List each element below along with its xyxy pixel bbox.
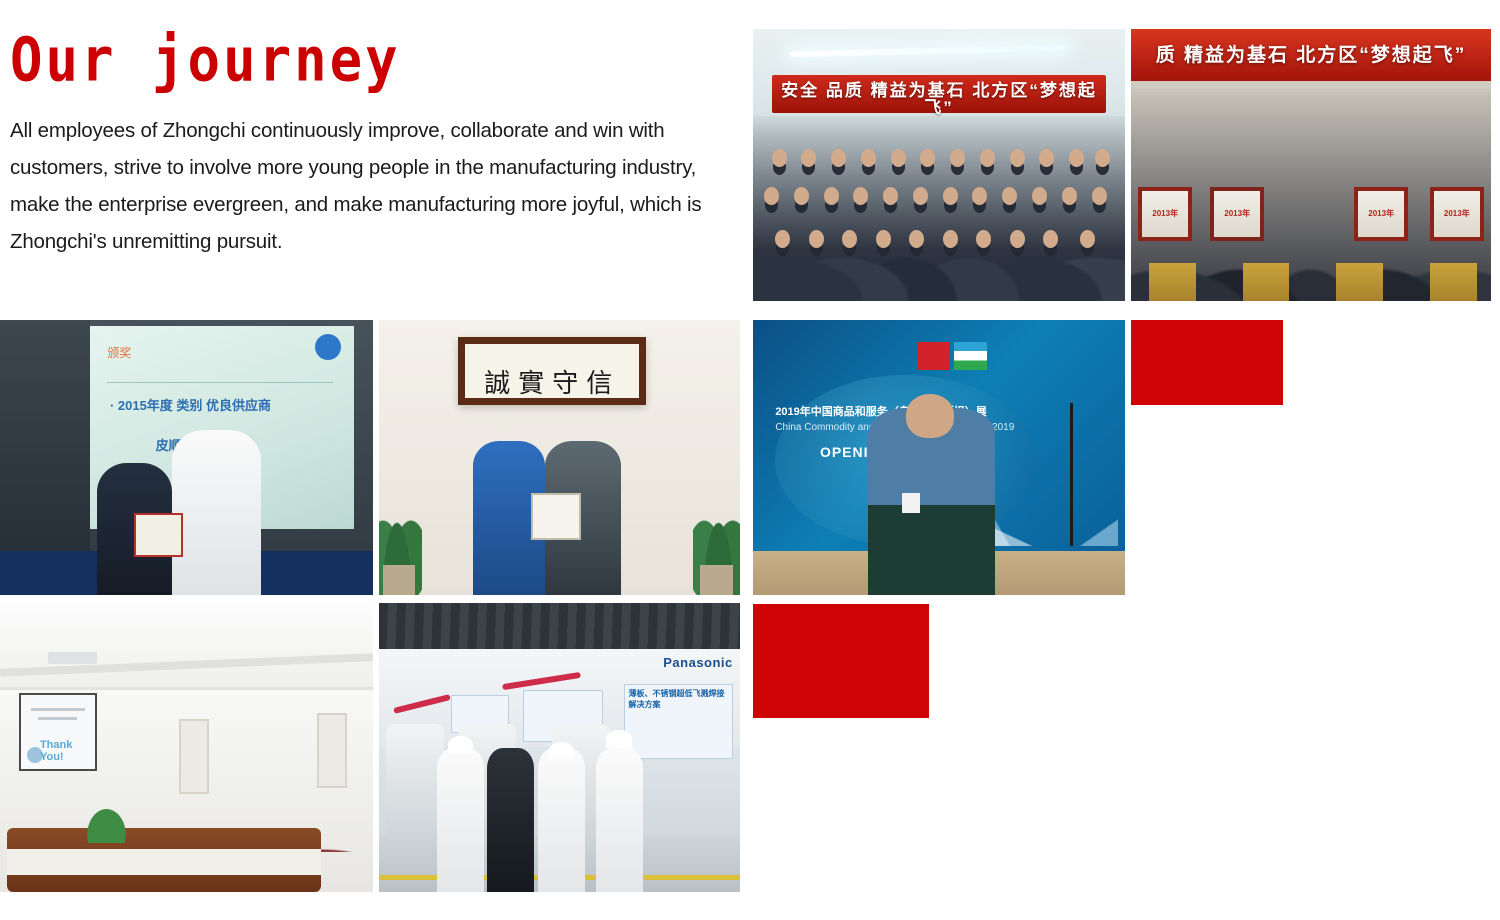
worker	[487, 748, 534, 893]
certificate	[531, 493, 582, 540]
photo-scene: 颁奖 · 2015年度 类别 优良供应商 皮顺 件有限公司	[0, 320, 373, 595]
plant-icon	[82, 802, 130, 842]
roof-trusses	[379, 603, 740, 649]
photo-scene: 2019年中国商品和服务（乌兹别克斯坦）展 China Commodity an…	[753, 320, 1125, 595]
plant-pot	[383, 565, 415, 595]
worker-cap	[606, 730, 631, 747]
chair	[1149, 263, 1196, 301]
slide-title: 颁奖	[107, 344, 131, 361]
red-block-right	[1131, 320, 1283, 405]
person-head	[906, 394, 954, 438]
page-root: Our journey All employees of Zhongchi co…	[0, 0, 1500, 920]
plaque-text: 2013年	[1434, 208, 1480, 219]
banner-text: 质 精益为基石 北方区“梦想起飞”	[1131, 29, 1491, 67]
photo-scene: Thank You!	[0, 603, 373, 892]
brand-label: Panasonic	[663, 655, 733, 670]
photo-calligraphy-handshake: 誠實守信	[379, 320, 740, 595]
worker	[538, 748, 585, 893]
slide-line	[38, 717, 77, 720]
microphone-stand	[1070, 403, 1073, 546]
page-title: Our journey	[10, 28, 740, 93]
photo-scene: 誠實守信	[379, 320, 740, 595]
welding-robot	[386, 724, 444, 840]
slide-text: Thank You!	[40, 739, 95, 763]
photo-scene: Panasonic 薄板、不锈钢超低飞溅焊接解决方案	[379, 603, 740, 892]
worker-cap	[448, 736, 473, 753]
certificate	[134, 513, 182, 557]
banner: 安全 品质 精益为基石 北方区“梦想起飞”	[772, 75, 1107, 113]
ceiling	[0, 603, 373, 690]
red-block-center	[753, 604, 929, 718]
slide-line	[31, 708, 85, 711]
table-papers	[7, 849, 320, 875]
poster-text: 薄板、不锈钢超低飞溅焊接解决方案	[625, 685, 731, 713]
photo-meeting-room: Thank You!	[0, 603, 373, 892]
intro-section: Our journey All employees of Zhongchi co…	[10, 28, 740, 260]
photo-welding-robot-training: Panasonic 薄板、不锈钢超低飞溅焊接解决方案	[379, 603, 740, 892]
award-plaque: 2013年	[1210, 187, 1264, 241]
slide-rule	[107, 382, 333, 383]
projection-screen: Thank You!	[19, 693, 97, 771]
photo-group-banner: 安全 品质 精益为基石 北方区“梦想起飞”	[753, 29, 1125, 301]
worker	[596, 748, 643, 893]
chair	[1430, 263, 1477, 301]
award-plaque: 2013年	[1354, 187, 1408, 241]
intro-paragraph: All employees of Zhongchi continuously i…	[10, 112, 720, 260]
crowd	[753, 116, 1125, 301]
plaque-text: 2013年	[1358, 208, 1404, 219]
plaque-text: 2013年	[1214, 208, 1260, 219]
calligraphy-frame: 誠實守信	[458, 337, 646, 406]
person-right	[172, 430, 262, 595]
worker	[437, 748, 484, 893]
award-plaque: 2013年	[1430, 187, 1484, 241]
photo-award-ceremony: 质 精益为基石 北方区“梦想起飞” 2013年 2013年 2013年 2013…	[1131, 29, 1491, 301]
photo-supplier-award: 颁奖 · 2015年度 类别 优良供应商 皮顺 件有限公司	[0, 320, 373, 595]
plaque-text: 2013年	[1142, 208, 1188, 219]
worker-cap	[549, 742, 574, 759]
banner: 质 精益为基石 北方区“梦想起飞”	[1131, 29, 1491, 81]
chair	[1336, 263, 1383, 301]
id-badge	[902, 493, 921, 512]
company-logo	[315, 334, 341, 360]
award-plaque: 2013年	[1138, 187, 1192, 241]
ceiling-lamp	[48, 652, 96, 664]
photo-uzbekistan-expo: 2019年中国商品和服务（乌兹别克斯坦）展 China Commodity an…	[753, 320, 1125, 595]
shard-graphic	[991, 452, 1117, 546]
poster-board: 薄板、不锈钢超低飞溅焊接解决方案	[624, 684, 732, 759]
photo-scene: 质 精益为基石 北方区“梦想起飞” 2013年 2013年 2013年 2013…	[1131, 29, 1491, 301]
flag-uzbekistan-icon	[954, 342, 987, 370]
slide-line-1: · 2015年度 类别 优良供应商	[110, 395, 271, 414]
calligraphy-text: 誠實守信	[465, 344, 639, 398]
plant-pot	[700, 565, 732, 595]
chair	[1243, 263, 1290, 301]
flag-china-icon	[917, 342, 950, 370]
photo-scene: 安全 品质 精益为基石 北方区“梦想起飞”	[753, 29, 1125, 301]
banner-text: 安全 品质 精益为基石 北方区“梦想起飞”	[772, 75, 1107, 116]
